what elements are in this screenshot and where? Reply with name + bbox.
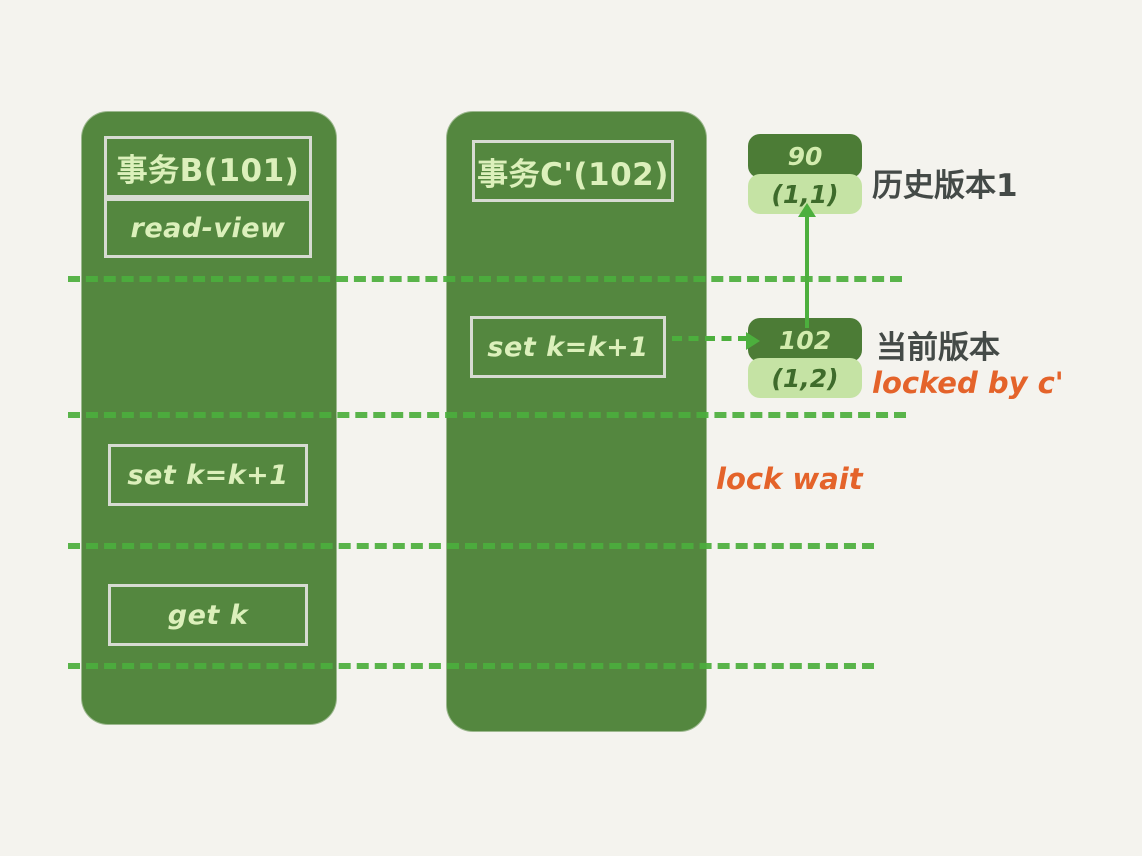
current-version-annotation: 当前版本 [876,322,1000,367]
transaction-b-statement-set-k: set k=k+1 [108,444,308,506]
transaction-b-statement-read-view: read-view [104,198,312,258]
transaction-b-header-box: 事务B(101) [104,136,312,198]
transaction-c-prime-statement-label: set k=k+1 [487,332,648,363]
current-version-block: 102 (1,2) [748,318,862,398]
history-version-annotation: 历史版本1 [872,160,1018,205]
history-version-trx-id: 90 [748,134,862,178]
current-version-value: (1,2) [748,358,862,398]
diagram-canvas: 事务B(101) read-view set k=k+1 get k 事务C'(… [0,0,1142,856]
current-version-lock-annotation: locked by c' [872,366,1064,400]
timeline-divider [68,276,902,282]
transaction-b-statement-label: read-view [131,213,286,244]
transaction-c-prime-column [447,112,706,731]
update-row-arrow-icon [672,336,748,341]
current-version-value-label: (1,2) [771,364,838,393]
timeline-divider [68,543,874,549]
transaction-b-statement-label: set k=k+1 [127,460,288,491]
transaction-b-statement-label: get k [168,600,248,631]
transaction-b-header-label: 事务B(101) [117,145,300,190]
transaction-b-statement-get-k: get k [108,584,308,646]
timeline-divider [68,663,874,669]
transaction-c-prime-statement-set-k: set k=k+1 [470,316,666,378]
current-version-trx-id-label: 102 [779,326,831,355]
history-version-trx-id-label: 90 [788,142,823,171]
undo-log-pointer-arrow-icon [805,212,809,328]
timeline-divider [68,412,906,418]
transaction-c-prime-header-label: 事务C'(102) [477,149,669,194]
lock-wait-annotation: lock wait [716,462,863,496]
history-version-block: 90 (1,1) [748,134,862,214]
transaction-c-prime-header-box: 事务C'(102) [472,140,674,202]
